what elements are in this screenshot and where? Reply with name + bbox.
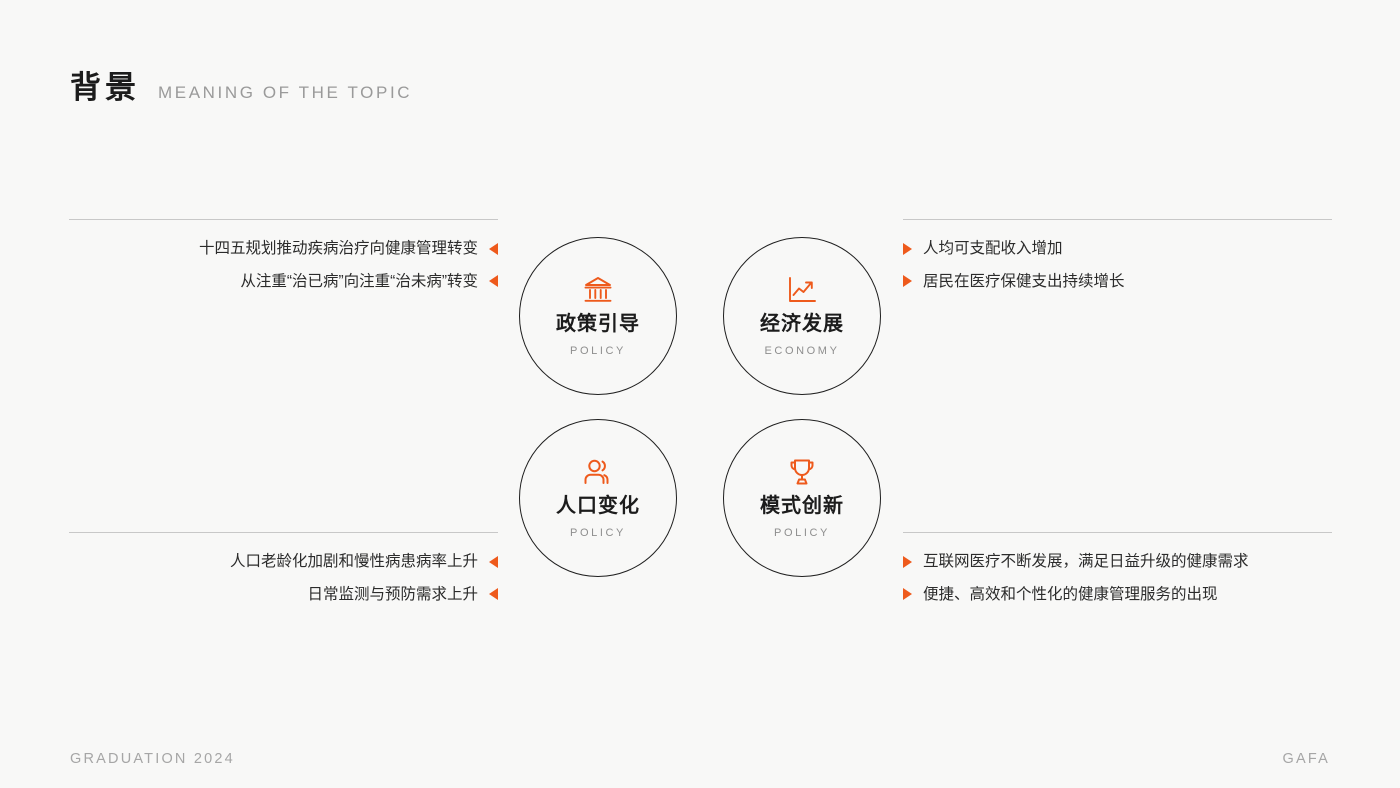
circle-title-model: 模式创新: [760, 496, 844, 516]
footer-right-label: GAFA: [1283, 752, 1330, 767]
triangle-right-icon: [903, 275, 912, 287]
list-item: 十四五规划推动疾病治疗向健康管理转变: [69, 241, 498, 257]
circle-subtitle-people: POLICY: [570, 528, 626, 539]
triangle-left-icon: [489, 556, 498, 568]
bullet-text: 便捷、高效和个性化的健康管理服务的出现: [923, 587, 1218, 603]
bullet-text: 从注重“治已病”向注重“治未病”转变: [240, 274, 478, 290]
bullet-list-bottom-left: 人口老龄化加剧和慢性病患病率上升 日常监测与预防需求上升: [69, 533, 498, 602]
bullet-list-top-right: 人均可支配收入增加 居民在医疗保健支出持续增长: [903, 220, 1332, 289]
circle-subtitle-economy: ECONOMY: [764, 346, 839, 357]
triangle-right-icon: [903, 243, 912, 255]
page-title: 背景 MEANING OF THE TOPIC: [70, 72, 412, 103]
bullet-list-top-left: 十四五规划推动疾病治疗向健康管理转变 从注重“治已病”向注重“治未病”转变: [69, 220, 498, 289]
quadrant-top-right: 人均可支配收入增加 居民在医疗保健支出持续增长: [903, 219, 1332, 289]
circle-card-people[interactable]: 人口变化 POLICY: [519, 419, 677, 577]
triangle-left-icon: [489, 588, 498, 600]
users-icon: [583, 457, 613, 487]
list-item: 居民在医疗保健支出持续增长: [903, 274, 1332, 290]
quadrant-bottom-right: 互联网医疗不断发展，满足日益升级的健康需求 便捷、高效和个性化的健康管理服务的出…: [903, 532, 1332, 602]
list-item: 人口老龄化加剧和慢性病患病率上升: [69, 554, 498, 570]
circle-subtitle-policy: POLICY: [570, 346, 626, 357]
circle-title-economy: 经济发展: [760, 314, 844, 334]
trophy-icon: [788, 457, 816, 487]
circle-card-policy[interactable]: 政策引导 POLICY: [519, 237, 677, 395]
list-item: 日常监测与预防需求上升: [69, 587, 498, 603]
page-title-en: MEANING OF THE TOPIC: [158, 84, 412, 101]
triangle-right-icon: [903, 556, 912, 568]
trend-up-chart-icon: [787, 275, 817, 305]
circle-title-people: 人口变化: [556, 496, 640, 516]
quadrant-bottom-left: 人口老龄化加剧和慢性病患病率上升 日常监测与预防需求上升: [69, 532, 498, 602]
bullet-text: 日常监测与预防需求上升: [307, 587, 478, 603]
list-item: 互联网医疗不断发展，满足日益升级的健康需求: [903, 554, 1332, 570]
bullet-list-bottom-right: 互联网医疗不断发展，满足日益升级的健康需求 便捷、高效和个性化的健康管理服务的出…: [903, 533, 1332, 602]
triangle-right-icon: [903, 588, 912, 600]
circle-title-policy: 政策引导: [556, 314, 640, 334]
triangle-left-icon: [489, 275, 498, 287]
quadrant-top-left: 十四五规划推动疾病治疗向健康管理转变 从注重“治已病”向注重“治未病”转变: [69, 219, 498, 289]
list-item: 人均可支配收入增加: [903, 241, 1332, 257]
triangle-left-icon: [489, 243, 498, 255]
list-item: 便捷、高效和个性化的健康管理服务的出现: [903, 587, 1332, 603]
bullet-text: 十四五规划推动疾病治疗向健康管理转变: [199, 241, 478, 257]
circle-subtitle-model: POLICY: [774, 528, 830, 539]
page-title-cn: 背景: [70, 72, 140, 103]
bullet-text: 人均可支配收入增加: [923, 241, 1063, 257]
circle-card-economy[interactable]: 经济发展 ECONOMY: [723, 237, 881, 395]
bank-icon: [583, 275, 613, 305]
circle-card-model[interactable]: 模式创新 POLICY: [723, 419, 881, 577]
list-item: 从注重“治已病”向注重“治未病”转变: [69, 274, 498, 290]
bullet-text: 居民在医疗保健支出持续增长: [923, 274, 1125, 290]
bullet-text: 人口老龄化加剧和慢性病患病率上升: [230, 554, 478, 570]
footer-left-label: GRADUATION 2024: [70, 752, 235, 767]
bullet-text: 互联网医疗不断发展，满足日益升级的健康需求: [923, 554, 1249, 570]
